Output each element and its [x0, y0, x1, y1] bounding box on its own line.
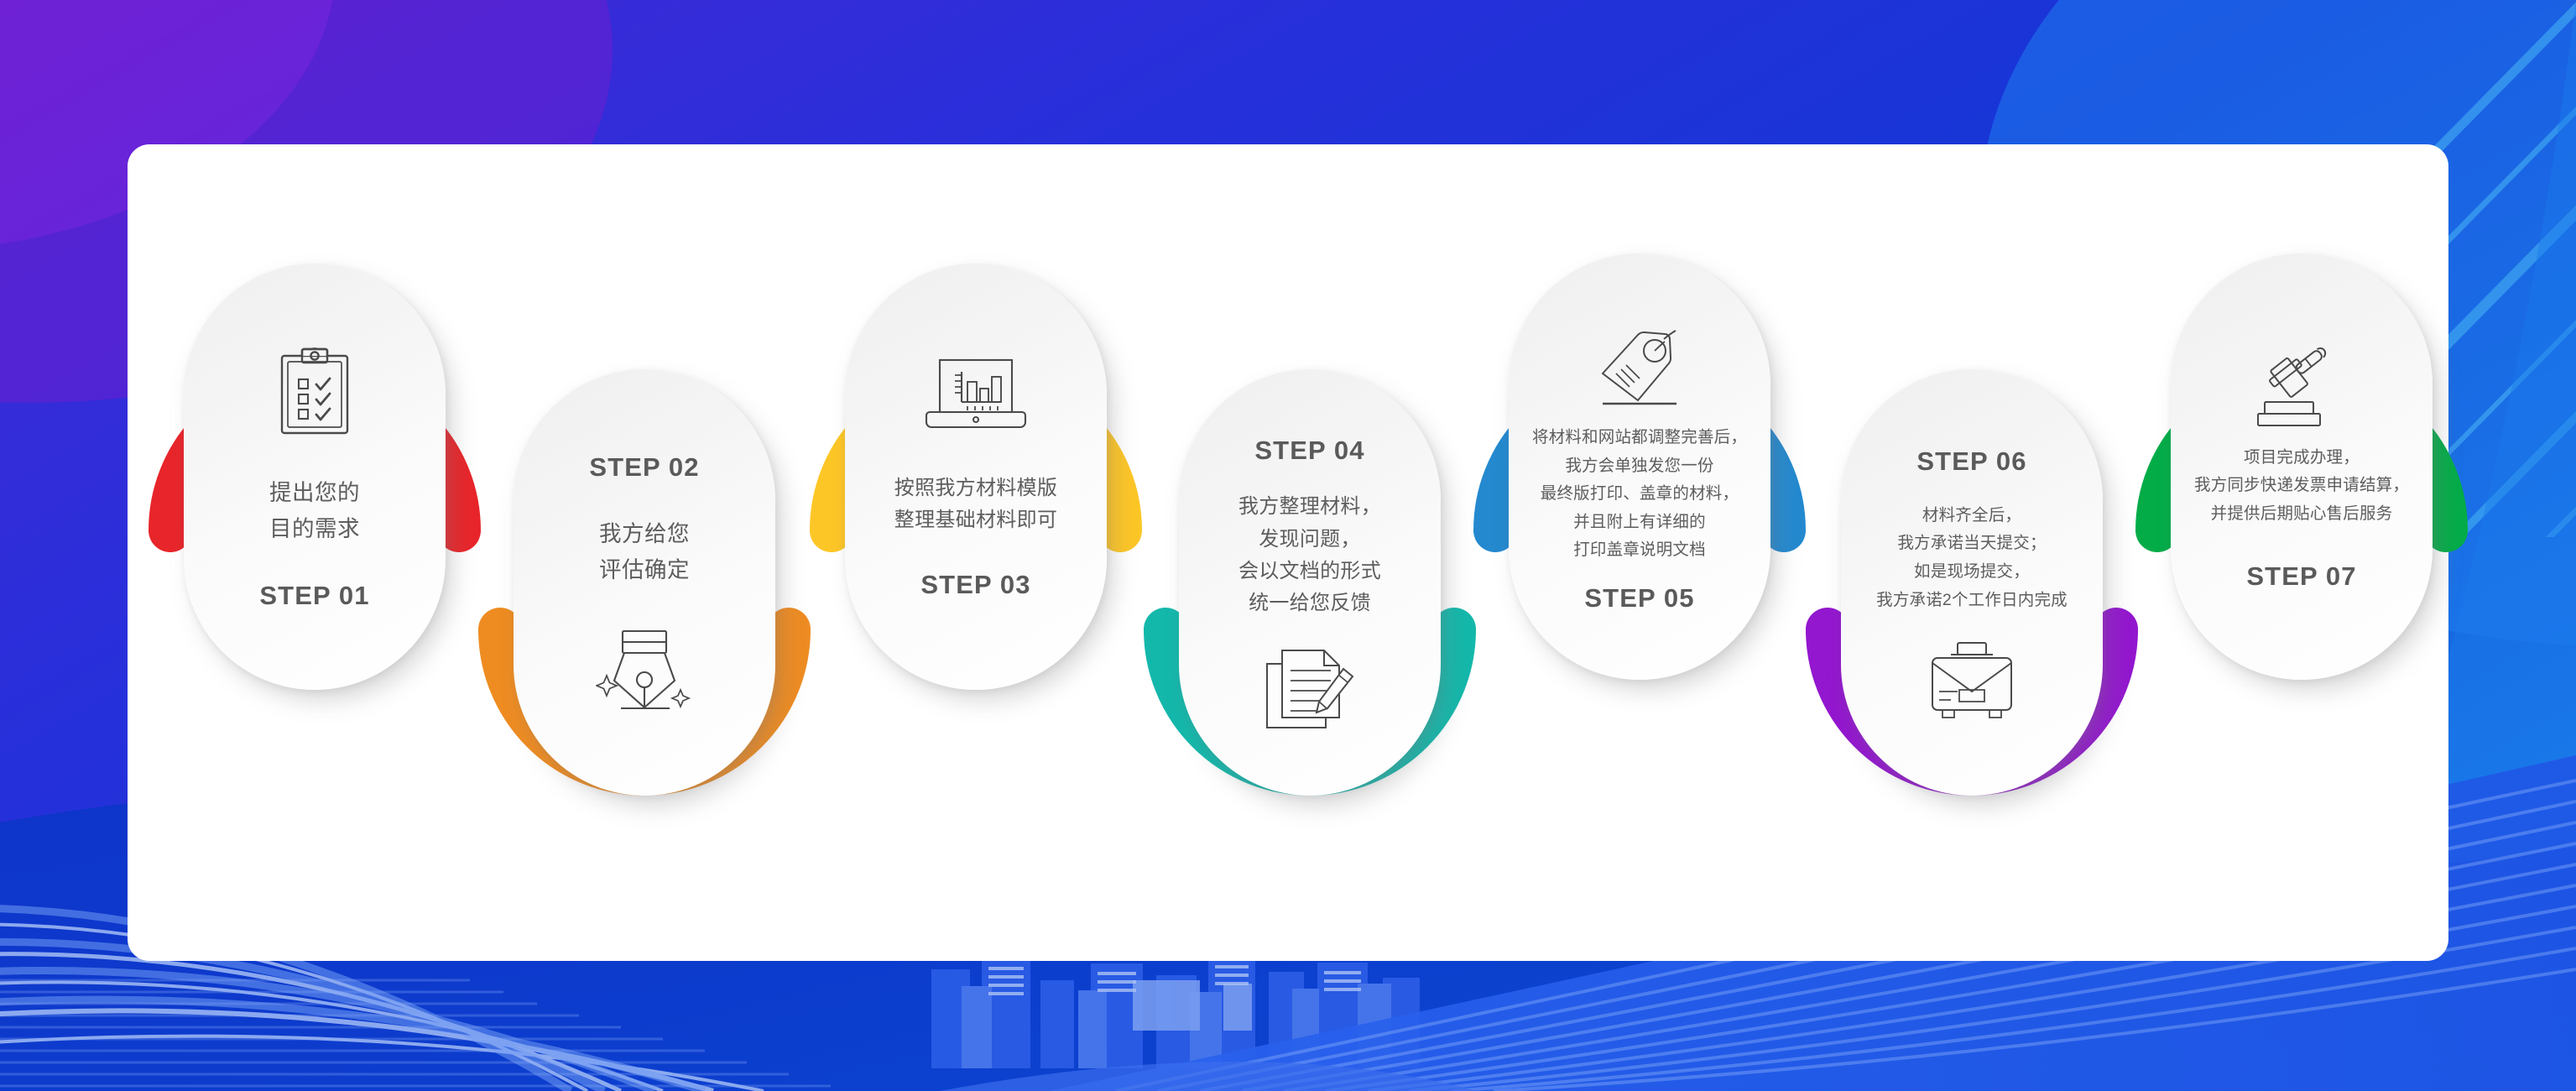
step-pill-05: 将材料和网站都调整完善后， 我方会单独发您一份 最终版打印、盖章的材料， 并且附…: [1509, 253, 1770, 680]
briefcase-envelope-icon: [1926, 639, 2018, 722]
step-pill-07: 项目完成办理， 我方同步快递发票申请结算， 并提供后期贴心售后服务 STEP 0…: [2171, 253, 2433, 680]
step-description-05: 将材料和网站都调整完善后， 我方会单独发您一份 最终版打印、盖章的材料， 并且附…: [1532, 424, 1747, 565]
step-label-06: STEP 06: [1916, 446, 2026, 477]
step-label-07: STEP 07: [2246, 561, 2356, 592]
step-card-01[interactable]: 提出您的 目的需求 STEP 01: [149, 220, 481, 807]
step-pill-04: STEP 04 我方整理材料， 发现问题， 会以文档的形式 统一给您反馈: [1179, 369, 1441, 796]
step-card-03[interactable]: 按照我方材料模版 整理基础材料即可 STEP 03: [810, 220, 1142, 807]
clipboard-checklist-icon: [274, 346, 355, 436]
step-description-07: 项目完成办理， 我方同步快递发票申请结算， 并提供后期贴心售后服务: [2194, 444, 2409, 529]
laptop-chart-icon: [923, 357, 1029, 434]
step-label-05: STEP 05: [1584, 583, 1694, 613]
step-card-07[interactable]: 项目完成办理， 我方同步快递发票申请结算， 并提供后期贴心售后服务 STEP 0…: [2135, 220, 2468, 807]
step-card-06[interactable]: STEP 06 材料齐全后， 我方承诺当天提交； 如是现场提交， 我方承诺2个工…: [1806, 352, 2138, 940]
step-card-02[interactable]: STEP 02 我方给您 评估确定: [478, 352, 811, 940]
step-pill-02: STEP 02 我方给您 评估确定: [514, 369, 775, 796]
step-pill-03: 按照我方材料模版 整理基础材料即可 STEP 03: [845, 264, 1107, 690]
step-label-01: STEP 01: [259, 581, 369, 611]
step-label-02: STEP 02: [589, 452, 699, 483]
step-description-01: 提出您的 目的需求: [269, 475, 360, 547]
gavel-icon: [2250, 345, 2354, 431]
pen-nib-sparkle-icon: [596, 627, 693, 716]
step-label-03: STEP 03: [920, 570, 1030, 600]
step-pill-01: 提出您的 目的需求 STEP 01: [184, 264, 446, 690]
step-description-06: 材料齐全后， 我方承诺当天提交； 如是现场提交， 我方承诺2个工作日内完成: [1876, 502, 2068, 614]
step-card-04[interactable]: STEP 04 我方整理材料， 发现问题， 会以文档的形式 统一给您反馈: [1144, 352, 1476, 940]
step-pill-06: STEP 06 材料齐全后， 我方承诺当天提交； 如是现场提交， 我方承诺2个工…: [1841, 369, 2103, 796]
documents-pencil-icon: [1260, 645, 1359, 733]
step-card-05[interactable]: 将材料和网站都调整完善后， 我方会单独发您一份 最终版打印、盖章的材料， 并且附…: [1473, 220, 1806, 807]
step-description-02: 我方给您 评估确定: [599, 516, 690, 588]
step-description-03: 按照我方材料模版 整理基础材料即可: [894, 472, 1057, 537]
steps-container: 提出您的 目的需求 STEP 01 STEP 02 我方给您 评估确定: [0, 0, 2576, 1091]
tag-stamp-icon: [1591, 323, 1688, 410]
step-label-04: STEP 04: [1254, 436, 1364, 466]
step-description-04: 我方整理材料， 发现问题， 会以文档的形式 统一给您反馈: [1238, 491, 1381, 620]
